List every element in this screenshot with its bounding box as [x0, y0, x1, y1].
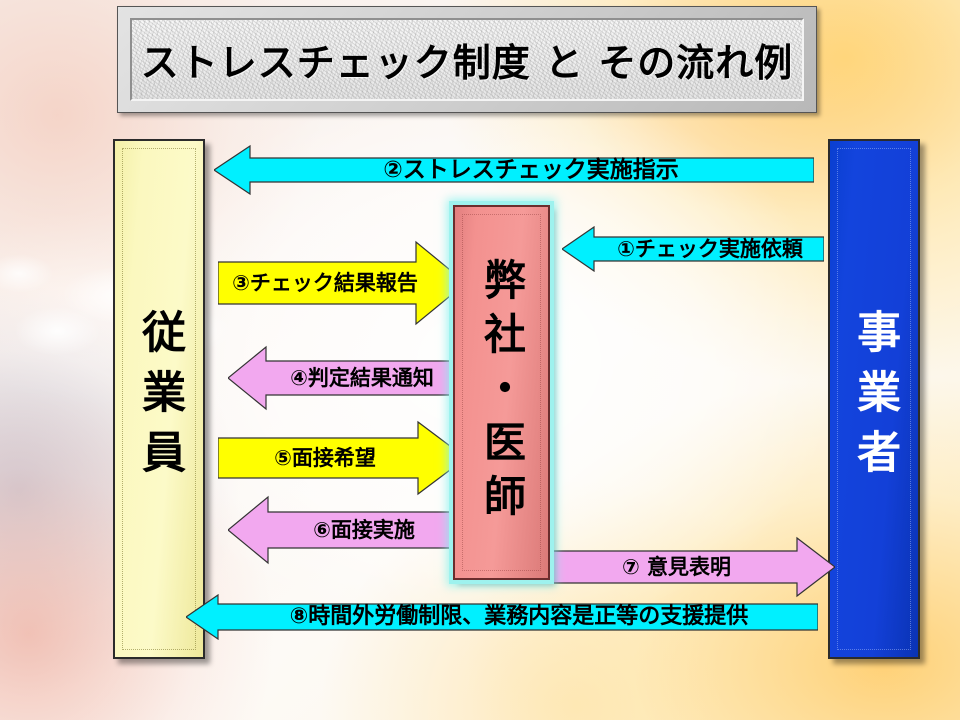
- flow-arrow-7-label: ⑦ 意見表明: [552, 557, 835, 578]
- actor-employer-label: 事業者: [851, 309, 897, 489]
- flow-arrow-1-label: ①チェック実施依頼: [562, 239, 824, 260]
- flow-arrow-4-label: ④判定結果通知: [228, 368, 462, 389]
- flow-arrow-6-label: ⑥面接実施: [228, 520, 466, 541]
- actor-employee: 従業員: [113, 139, 205, 659]
- title-plaque-inner: ストレスチェック制度 と その流れ例: [130, 18, 804, 101]
- flow-arrow-4[interactable]: ④判定結果通知: [228, 345, 462, 411]
- flow-arrow-2[interactable]: ②ストレスチェック実施指示: [214, 144, 814, 196]
- actor-clinic-label: 弊社・医師: [479, 258, 523, 528]
- flow-arrow-5[interactable]: ⑤面接希望: [218, 420, 466, 496]
- actor-clinic: 弊社・医師: [453, 205, 550, 580]
- slide-canvas: ストレスチェック制度 と その流れ例 従業員 弊社・医師 事業者 ②ストレスチェ…: [0, 0, 960, 720]
- flow-arrow-1[interactable]: ①チェック実施依頼: [562, 226, 824, 272]
- page-title: ストレスチェック制度 と その流れ例: [141, 32, 793, 87]
- actor-employee-inner: 従業員: [122, 148, 196, 650]
- flow-arrow-7[interactable]: ⑦ 意見表明: [552, 536, 835, 598]
- flow-arrow-8-label: ⑧時間外労働制限、業務内容是正等の支援提供: [186, 606, 818, 628]
- actor-clinic-inner: 弊社・医師: [462, 214, 541, 571]
- actor-employer: 事業者: [828, 139, 920, 659]
- title-plaque: ストレスチェック制度 と その流れ例: [117, 6, 817, 113]
- actor-employee-label: 従業員: [136, 309, 182, 489]
- flow-arrow-2-label: ②ストレスチェック実施指示: [214, 159, 814, 182]
- actor-employer-inner: 事業者: [837, 148, 911, 650]
- flow-arrow-3[interactable]: ③チェック結果報告: [218, 240, 466, 326]
- flow-arrow-5-label: ⑤面接希望: [218, 448, 466, 469]
- flow-arrow-6[interactable]: ⑥面接実施: [228, 495, 466, 565]
- flow-arrow-3-label: ③チェック結果報告: [218, 273, 466, 294]
- flow-arrow-8[interactable]: ⑧時間外労働制限、業務内容是正等の支援提供: [186, 594, 818, 640]
